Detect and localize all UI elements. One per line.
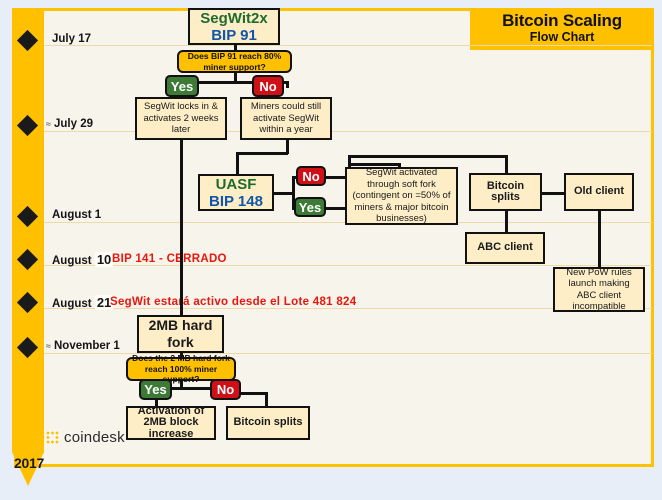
date-month: August <box>52 298 92 310</box>
node-uasf[interactable]: UASF BIP 148 <box>198 174 274 211</box>
node-segwit2x-sub: BIP 91 <box>211 27 257 44</box>
timeline-year-label: 2017 <box>14 455 44 471</box>
chart-title: Bitcoin Scaling <box>470 11 654 30</box>
node-uasf-title: UASF <box>216 176 257 193</box>
no-badge-2mb[interactable]: No <box>210 379 241 400</box>
node-miners-could-still-activate[interactable]: Miners could still activate SegWit withi… <box>240 97 332 140</box>
node-new-pow-rules[interactable]: New PoW rules launch making ABC client i… <box>553 267 645 312</box>
decision-bip91-support[interactable]: Does BIP 91 reach 80% miner support? <box>177 50 292 73</box>
approx-sign: ≈ <box>46 341 51 351</box>
node-2mb-hard-fork[interactable]: 2MB hard fork <box>137 315 224 353</box>
node-segwit2x[interactable]: SegWit2x BIP 91 <box>188 8 280 45</box>
flowchart-canvas: Bitcoin Scaling Flow Chart 2017 July 17 … <box>0 0 662 500</box>
date-day: 10 <box>95 252 113 267</box>
row-divider <box>44 45 652 46</box>
connector <box>272 192 294 195</box>
yes-badge-2mb[interactable]: Yes <box>139 379 172 400</box>
yes-badge-uasf[interactable]: Yes <box>294 197 326 217</box>
content-frame <box>14 8 654 467</box>
node-uasf-sub: BIP 148 <box>209 193 263 210</box>
coindesk-mark-icon <box>46 431 59 444</box>
coindesk-wordmark: coindesk <box>64 429 125 446</box>
timeline-date-august-10: August 10 <box>52 252 113 267</box>
connector <box>505 155 508 173</box>
decision-2mb-support[interactable]: Does the 2 MB hard fork reach 100% miner… <box>126 357 236 381</box>
node-segwit-soft-fork[interactable]: SegWit activated through soft fork (cont… <box>345 167 458 225</box>
chart-subtitle: Flow Chart <box>470 30 654 45</box>
connector <box>598 211 601 268</box>
connector <box>505 211 508 233</box>
approx-sign: ≈ <box>46 119 51 129</box>
timeline-date-august-1: August 1 <box>52 209 101 221</box>
node-activation-2mb-block-increase[interactable]: Activation of 2MB block increase <box>126 406 216 440</box>
yes-badge-bip91[interactable]: Yes <box>165 75 199 97</box>
node-old-client[interactable]: Old client <box>564 173 634 211</box>
timeline-date-july-29: July 29 <box>54 118 93 130</box>
timeline-date-july-17: July 17 <box>52 33 91 45</box>
connector <box>542 192 566 195</box>
connector <box>236 152 288 155</box>
connector <box>348 163 400 166</box>
connector <box>348 155 507 158</box>
timeline-bar <box>12 8 44 453</box>
connector <box>323 207 345 210</box>
connector <box>234 73 237 81</box>
connector <box>236 152 239 174</box>
connector <box>265 392 268 407</box>
chart-header: Bitcoin Scaling Flow Chart <box>470 8 654 50</box>
node-segwit2x-title: SegWit2x <box>200 10 267 27</box>
no-badge-uasf[interactable]: No <box>296 166 326 186</box>
node-bitcoin-splits-2mb[interactable]: Bitcoin splits <box>226 406 310 440</box>
timeline-date-august-21: August 21 <box>52 295 113 310</box>
node-segwit-locks-in[interactable]: SegWit locks in & activates 2 weeks late… <box>135 97 227 140</box>
coindesk-logo: coindesk <box>46 429 125 446</box>
node-bitcoin-splits-uasf[interactable]: Bitcoin splits <box>469 173 542 211</box>
connector <box>180 140 183 315</box>
note-segwit-active: SegWit estará activo desde el Lote 481 8… <box>110 296 356 308</box>
connector <box>286 81 289 88</box>
timeline-date-november-1: November 1 <box>54 340 120 352</box>
no-badge-bip91[interactable]: No <box>252 75 284 97</box>
date-month: August <box>52 255 92 267</box>
note-bip141: BIP 141 - CERRADO <box>112 253 227 265</box>
node-abc-client[interactable]: ABC client <box>465 232 545 264</box>
